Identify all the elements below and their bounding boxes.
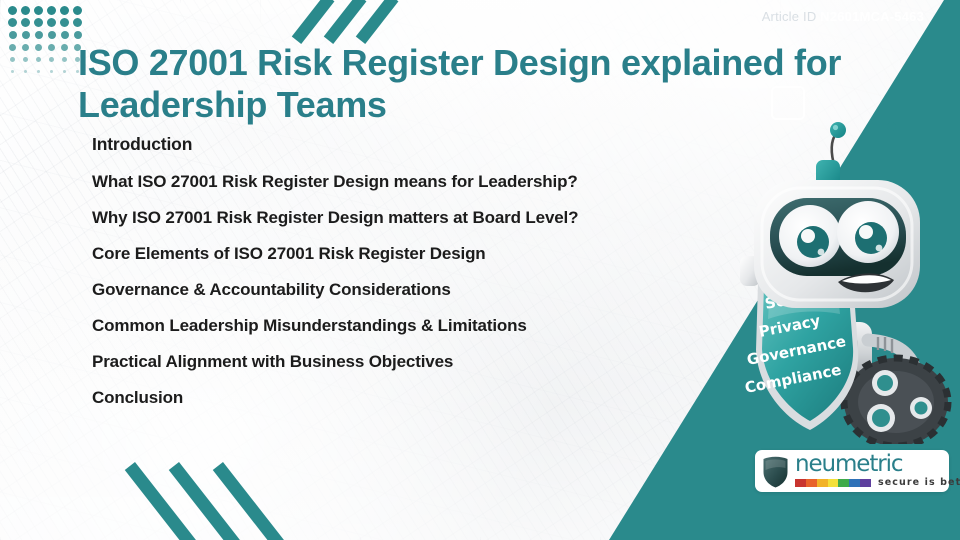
article-id-value: N2601MCA-5463 [820, 9, 924, 24]
toc-item-governance[interactable]: Governance & Accountability Consideratio… [92, 281, 732, 298]
robot-wheel [844, 358, 948, 444]
logo-tagline: secure is better [878, 477, 960, 488]
logo-wordmark: neumetric [795, 454, 960, 476]
toc-item-introduction[interactable]: Introduction [92, 136, 732, 154]
article-id-label: Article ID [762, 9, 817, 24]
robot-antenna-ball [830, 122, 846, 138]
slide-canvas: Article ID N2601MCA-5463 ISO 27001 Risk … [0, 0, 960, 540]
robot-iris-right [855, 222, 887, 254]
toc-item-conclusion[interactable]: Conclusion [92, 389, 732, 406]
logo-shield-icon [762, 455, 789, 488]
robot-mascot: Security Privacy Governance Compliance [718, 104, 960, 444]
toc-item-why-matters[interactable]: Why ISO 27001 Risk Register Design matte… [92, 209, 732, 226]
robot-iris-left [797, 226, 829, 258]
toc-item-what-means[interactable]: What ISO 27001 Risk Register Design mean… [92, 173, 732, 190]
article-id: Article ID N2601MCA-5463 [762, 9, 924, 24]
robot-head [754, 180, 920, 308]
toc-item-core-elements[interactable]: Core Elements of ISO 27001 Risk Register… [92, 245, 732, 262]
top-diagonal-stripes [325, 0, 445, 36]
bottom-diagonal-stripes [92, 462, 232, 540]
logo-rainbow-bar [795, 479, 871, 487]
toc-item-misunderstandings[interactable]: Common Leadership Misunderstandings & Li… [92, 317, 732, 334]
toc-item-alignment[interactable]: Practical Alignment with Business Object… [92, 353, 732, 370]
table-of-contents: Introduction What ISO 27001 Risk Registe… [92, 136, 732, 425]
neumetric-logo[interactable]: neumetric secure is better [755, 450, 949, 492]
robot-mascot-illustration: Security Privacy Governance Compliance [718, 104, 960, 444]
dot-grid-decoration [6, 4, 84, 78]
